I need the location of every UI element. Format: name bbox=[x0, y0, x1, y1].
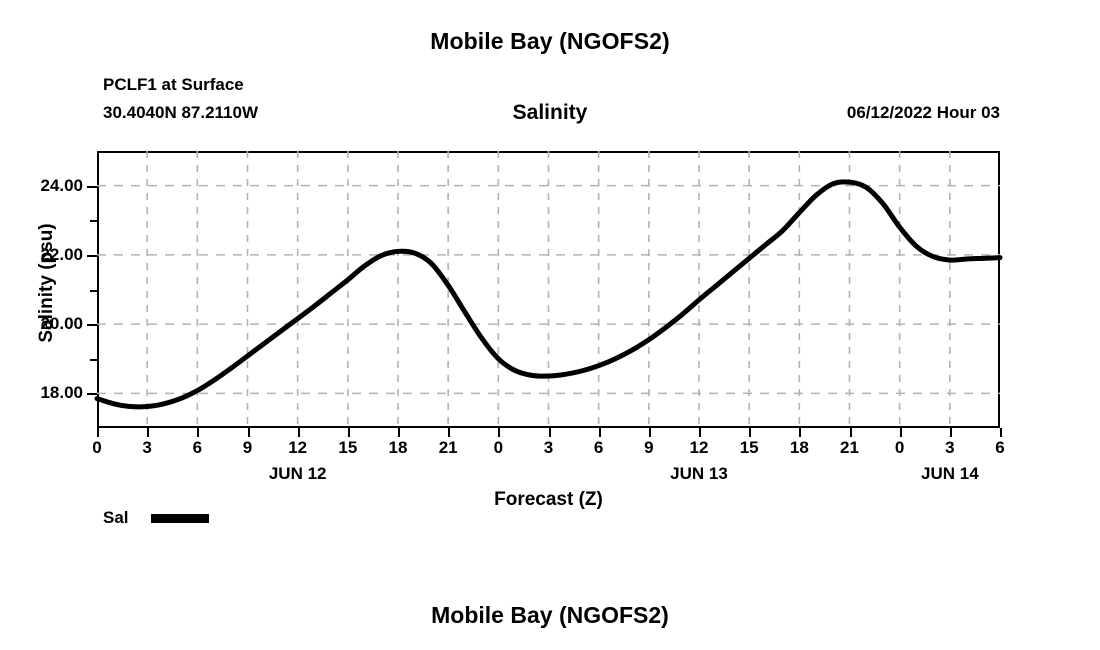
x-tick bbox=[900, 428, 902, 437]
x-tick bbox=[1000, 428, 1002, 437]
y-axis-title: Salinity (psu) bbox=[36, 163, 58, 403]
x-tick bbox=[298, 428, 300, 437]
x-tick-label: 0 bbox=[92, 438, 101, 458]
legend-label-sal: Sal bbox=[103, 508, 129, 528]
x-tick bbox=[549, 428, 551, 437]
salinity-series-line bbox=[97, 151, 1000, 428]
x-tick-label: 21 bbox=[439, 438, 458, 458]
x-day-label: JUN 12 bbox=[269, 464, 327, 484]
page-title-top: Mobile Bay (NGOFS2) bbox=[0, 28, 1100, 55]
page-title-bottom: Mobile Bay (NGOFS2) bbox=[0, 602, 1100, 629]
y-tick-major bbox=[87, 255, 97, 257]
station-id-label: PCLF1 at Surface bbox=[103, 75, 244, 95]
x-tick bbox=[850, 428, 852, 437]
x-tick-label: 6 bbox=[594, 438, 603, 458]
x-tick bbox=[699, 428, 701, 437]
x-tick bbox=[649, 428, 651, 437]
x-tick bbox=[498, 428, 500, 437]
y-tick-minor bbox=[90, 359, 97, 361]
y-tick-minor bbox=[90, 290, 97, 292]
x-tick-label: 0 bbox=[895, 438, 904, 458]
x-tick-label: 6 bbox=[995, 438, 1004, 458]
x-tick-label: 9 bbox=[243, 438, 252, 458]
x-tick-label: 18 bbox=[790, 438, 809, 458]
legend-swatch-sal bbox=[151, 514, 209, 523]
x-tick-label: 9 bbox=[644, 438, 653, 458]
x-tick bbox=[248, 428, 250, 437]
model-run-timestamp: 06/12/2022 Hour 03 bbox=[847, 103, 1000, 123]
legend: Sal bbox=[103, 508, 209, 528]
y-tick-major bbox=[87, 186, 97, 188]
plot-area: 18.0020.0022.0024.00 0369121518210369121… bbox=[97, 151, 1000, 428]
x-tick-label: 15 bbox=[338, 438, 357, 458]
x-tick-label: 0 bbox=[494, 438, 503, 458]
y-tick-major bbox=[87, 324, 97, 326]
x-tick bbox=[448, 428, 450, 437]
x-day-label: JUN 13 bbox=[670, 464, 728, 484]
x-day-label: JUN 14 bbox=[921, 464, 979, 484]
x-tick bbox=[799, 428, 801, 437]
y-tick-major bbox=[87, 393, 97, 395]
x-axis-title: Forecast (Z) bbox=[97, 489, 1000, 511]
chart-page: Mobile Bay (NGOFS2) PCLF1 at Surface 30.… bbox=[0, 0, 1100, 650]
x-tick-label: 6 bbox=[193, 438, 202, 458]
x-tick bbox=[749, 428, 751, 437]
x-tick-label: 3 bbox=[544, 438, 553, 458]
x-tick bbox=[398, 428, 400, 437]
y-tick-minor bbox=[90, 220, 97, 222]
x-tick bbox=[348, 428, 350, 437]
x-tick bbox=[97, 428, 99, 437]
x-tick-label: 3 bbox=[945, 438, 954, 458]
x-tick-label: 12 bbox=[690, 438, 709, 458]
x-tick-label: 18 bbox=[389, 438, 408, 458]
x-tick-label: 12 bbox=[288, 438, 307, 458]
x-tick bbox=[147, 428, 149, 437]
x-tick bbox=[197, 428, 199, 437]
x-tick bbox=[950, 428, 952, 437]
x-tick-label: 21 bbox=[840, 438, 859, 458]
x-tick-label: 15 bbox=[740, 438, 759, 458]
x-tick bbox=[599, 428, 601, 437]
x-tick-label: 3 bbox=[142, 438, 151, 458]
